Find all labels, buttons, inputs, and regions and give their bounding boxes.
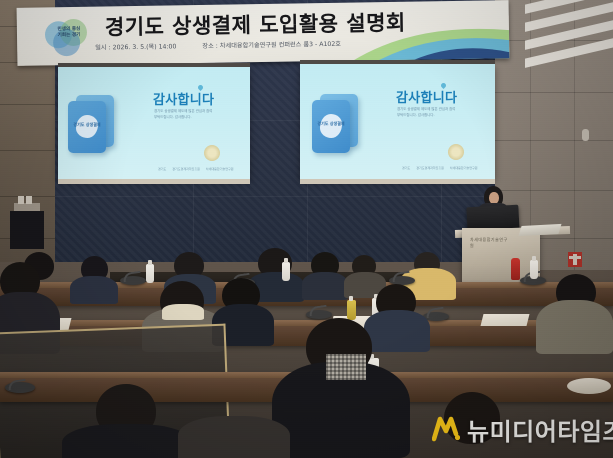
audience-body-front-2	[62, 424, 192, 458]
left-slide: 경기도 상생결제 감사합니다 경기도 상생결제 제도에 많은 관심과 참여 부탁…	[58, 67, 250, 179]
audience-plaid-collar	[326, 354, 366, 380]
ceiling-slat-feature	[525, 0, 613, 72]
watermark: 뉴미디어타임즈	[432, 412, 613, 447]
slide-card-text: 경기도 상생결제	[312, 121, 350, 127]
slide-body-line-1: 경기도 상생결제 제도에 많은 관심과 참여	[154, 109, 212, 114]
gyeonggi-logo: 민생의 중심 기회는 경기	[43, 17, 96, 56]
slide-body-line-2: 부탁드립니다. 감사합니다.	[397, 113, 435, 118]
slide-footer-logo-2: 경기도경제과학진흥원	[172, 167, 200, 171]
audience-body-front-4	[178, 416, 290, 458]
plate	[567, 378, 611, 394]
slide-seal-icon	[204, 145, 220, 161]
banner-title: 경기도 상생결제 도입활용 설명회	[105, 6, 455, 41]
water-bottle	[282, 262, 290, 281]
exit-sign-icon	[568, 252, 582, 267]
right-slide: 경기도 상생결제 감사합니다 경기도 상생결제 제도에 많은 관심과 참여 부탁…	[300, 64, 495, 179]
slide-footer-logo-2: 경기도경제과학진흥원	[416, 166, 444, 170]
wall-fixture-icon	[582, 129, 589, 141]
wall-dark-panel	[10, 211, 44, 249]
logo-line-2: 기회는 경기	[43, 33, 95, 40]
slide-thanks-text: 감사합니다	[396, 87, 457, 106]
slide-card-front-icon: 경기도 상생결제	[312, 100, 350, 153]
slide-thanks-text: 감사합니다	[153, 89, 214, 108]
water-bottle	[146, 264, 154, 283]
slide-body-line-2: 부탁드립니다. 감사합니다.	[154, 115, 192, 120]
wall-item-a-icon	[18, 196, 24, 204]
wall-item-b-icon	[26, 196, 32, 204]
juice-bottle	[347, 300, 356, 320]
newmedia-n-logo-icon	[432, 416, 460, 443]
slide-footer-logos: 경기도 경기도경제과학진흥원 차세대융합기술연구원	[158, 167, 234, 171]
slide-card-front-icon: 경기도 상생결제	[68, 101, 106, 153]
banner-date: 일시 : 2026. 3. 5.(목) 14:00	[95, 41, 176, 51]
audience-body-mid-3	[364, 310, 430, 352]
slide-seal-icon	[448, 144, 464, 160]
slide-footer-logos: 경기도 경기도경제과학진흥원 차세대융합기술연구원	[402, 166, 478, 170]
left-projection-screen: 경기도 상생결제 감사합니다 경기도 상생결제 제도에 많은 관심과 참여 부탁…	[58, 67, 250, 179]
desk-microphone	[120, 276, 146, 285]
slide-card-text: 경기도 상생결제	[68, 122, 106, 128]
water-bottle	[530, 260, 538, 279]
fire-extinguisher-icon	[511, 258, 520, 280]
event-banner: 민생의 중심 기회는 경기 경기도 상생결제 도입활용 설명회 일시 : 202…	[17, 0, 510, 66]
desk-microphone	[306, 310, 332, 319]
banner-place: 장소 : 차세대융합기술연구원 컨퍼런스 룸3 - A102호	[202, 39, 341, 50]
handout-paper	[481, 314, 530, 326]
slide-footer-logo-3: 차세대융합기술연구원	[206, 167, 234, 171]
audience-body-mid-4	[536, 300, 613, 354]
slide-footer-logo-1: 경기도	[402, 166, 410, 170]
desk-microphone	[5, 382, 35, 393]
conference-photo: 민생의 중심 기회는 경기 경기도 상생결제 도입활용 설명회 일시 : 202…	[0, 0, 613, 458]
audience-body-far-2	[302, 272, 348, 300]
slide-body-line-1: 경기도 상생결제 제도에 많은 관심과 참여	[397, 107, 455, 112]
right-projection-screen: 경기도 상생결제 감사합니다 경기도 상생결제 제도에 많은 관심과 참여 부탁…	[300, 64, 495, 179]
audience-body-far-5	[70, 276, 118, 304]
watermark-text: 뉴미디어타임즈	[467, 412, 613, 447]
podium-label: 차세대융합기술연구원	[470, 237, 510, 249]
slide-footer-logo-3: 차세대융합기술연구원	[450, 166, 478, 170]
slide-footer-logo-1: 경기도	[158, 167, 166, 171]
audience-hood-collar	[162, 304, 204, 320]
